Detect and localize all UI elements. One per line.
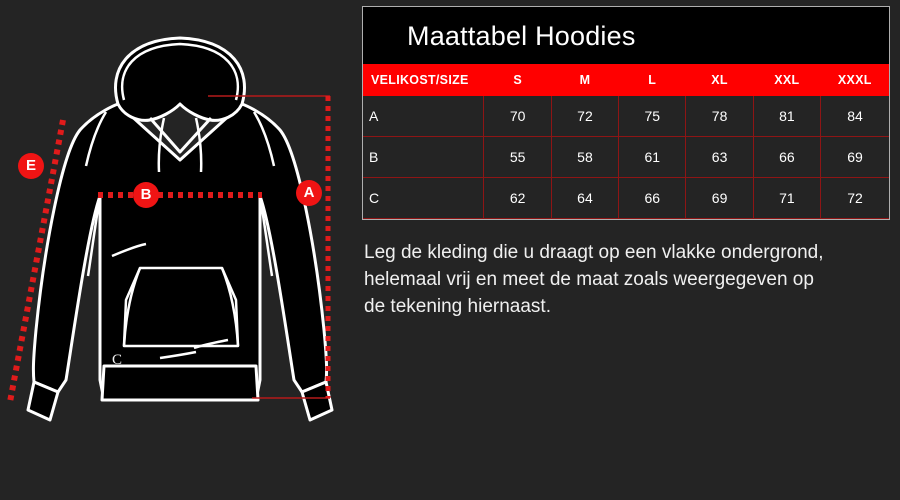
cell-c-l: 66	[619, 178, 686, 219]
cell-a-s: 70	[484, 96, 551, 137]
header-cell-xxl: XXL	[753, 64, 820, 96]
cell-b-xxxl: 69	[821, 137, 889, 178]
cell-c-xl: 69	[686, 178, 753, 219]
row-label-c: C	[363, 178, 484, 219]
cell-c-m: 64	[551, 178, 618, 219]
cell-b-l: 61	[619, 137, 686, 178]
cell-b-xxl: 66	[753, 137, 820, 178]
cell-a-m: 72	[551, 96, 618, 137]
cell-a-xxxl: 84	[821, 96, 889, 137]
row-label-a: A	[363, 96, 484, 137]
measure-label-c: C	[112, 352, 122, 369]
cell-a-xxl: 81	[753, 96, 820, 137]
measure-badge-b: B	[133, 182, 159, 208]
table-row: B 55 58 61 63 66 69	[363, 137, 889, 178]
cell-b-s: 55	[484, 137, 551, 178]
cell-c-xxl: 71	[753, 178, 820, 219]
size-table-panel: Maattabel Hoodies VELIKOST/SIZE S M L XL…	[362, 6, 890, 321]
page-title: Maattabel Hoodies	[363, 7, 889, 64]
header-cell-s: S	[484, 64, 551, 96]
measure-badge-e: E	[18, 153, 44, 179]
header-cell-l: L	[619, 64, 686, 96]
hoodie-outline-illustration	[0, 0, 360, 500]
size-table-body: A 70 72 75 78 81 84 B 55 58 61 63	[363, 96, 889, 219]
header-cell-xl: XL	[686, 64, 753, 96]
hoodie-diagram-panel: A B E C	[0, 0, 360, 500]
cell-b-m: 58	[551, 137, 618, 178]
cell-a-l: 75	[619, 96, 686, 137]
cell-b-xl: 63	[686, 137, 753, 178]
table-row: A 70 72 75 78 81 84	[363, 96, 889, 137]
size-table-container: Maattabel Hoodies VELIKOST/SIZE S M L XL…	[362, 6, 890, 220]
table-row: C 62 64 66 69 71 72	[363, 178, 889, 219]
measure-badge-a: A	[296, 180, 322, 206]
size-chart-page: A B E C Maattabel Hoodies VELIKOST/SIZE …	[0, 0, 900, 500]
header-cell-m: M	[551, 64, 618, 96]
size-table: VELIKOST/SIZE S M L XL XXL XXXL A 70 72	[363, 64, 889, 219]
header-cell-xxxl: XXXL	[821, 64, 889, 96]
measuring-instructions: Leg de kleding die u draagt op een vlakk…	[362, 240, 834, 321]
table-header-row: VELIKOST/SIZE S M L XL XXL XXXL	[363, 64, 889, 96]
hem-band	[102, 366, 258, 400]
size-table-head: VELIKOST/SIZE S M L XL XXL XXXL	[363, 64, 889, 96]
hood-shape	[116, 38, 245, 120]
row-label-b: B	[363, 137, 484, 178]
cell-c-xxxl: 72	[821, 178, 889, 219]
cell-c-s: 62	[484, 178, 551, 219]
cell-a-xl: 78	[686, 96, 753, 137]
header-cell-size: VELIKOST/SIZE	[363, 64, 484, 96]
